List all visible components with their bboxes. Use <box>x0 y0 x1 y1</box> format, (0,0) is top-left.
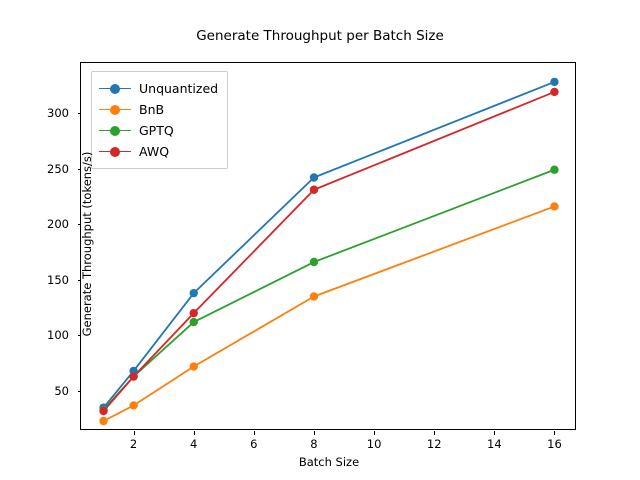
x-tick-mark <box>554 431 555 435</box>
x-tick-label: 10 <box>367 437 382 451</box>
x-axis-label: Batch Size <box>81 455 577 469</box>
x-tick-mark <box>254 431 255 435</box>
y-tick-label: 100 <box>47 328 69 342</box>
legend-swatch <box>99 104 131 116</box>
legend-swatch <box>99 83 131 95</box>
data-point-marker <box>550 166 558 174</box>
data-point-marker <box>310 258 318 266</box>
data-point-marker <box>190 362 198 370</box>
y-tick-mark <box>78 391 82 392</box>
legend-label: BnB <box>139 102 164 117</box>
x-tick-mark <box>134 431 135 435</box>
data-point-marker <box>190 289 198 297</box>
legend-marker-icon <box>110 147 120 157</box>
legend-swatch <box>99 125 131 137</box>
legend-marker-icon <box>110 84 120 94</box>
y-axis-label: Generate Throughput (tokens/s) <box>80 14 94 474</box>
x-tick-label: 8 <box>310 437 317 451</box>
y-tick-mark <box>78 169 82 170</box>
x-tick-label: 2 <box>130 437 137 451</box>
x-tick-label: 16 <box>547 437 562 451</box>
y-tick-label: 150 <box>47 273 69 287</box>
chart-figure: Generate Throughput per Batch Size Unqua… <box>0 0 640 480</box>
data-point-marker <box>550 202 558 210</box>
legend-label: GPTQ <box>139 123 174 138</box>
data-point-marker <box>129 401 137 409</box>
data-point-marker <box>310 186 318 194</box>
legend-label: AWQ <box>139 144 169 159</box>
x-tick-label: 12 <box>427 437 442 451</box>
data-point-marker <box>190 309 198 317</box>
legend-item[interactable]: GPTQ <box>99 120 218 141</box>
data-point-marker <box>190 318 198 326</box>
legend-item[interactable]: BnB <box>99 99 218 120</box>
y-tick-mark <box>78 113 82 114</box>
data-point-marker <box>129 372 137 380</box>
y-tick-label: 200 <box>47 217 69 231</box>
chart-legend: UnquantizedBnBGPTQAWQ <box>91 71 228 169</box>
data-point-marker <box>310 173 318 181</box>
y-tick-mark <box>78 280 82 281</box>
x-tick-mark <box>314 431 315 435</box>
series-line <box>104 206 555 421</box>
data-point-marker <box>310 292 318 300</box>
legend-swatch <box>99 146 131 158</box>
series-line <box>104 170 555 410</box>
x-tick-label: 6 <box>250 437 257 451</box>
y-tick-mark <box>78 335 82 336</box>
x-tick-mark <box>494 431 495 435</box>
data-point-marker <box>99 417 107 425</box>
legend-item[interactable]: AWQ <box>99 141 218 162</box>
data-point-marker <box>550 78 558 86</box>
data-point-marker <box>550 88 558 96</box>
x-tick-label: 14 <box>487 437 502 451</box>
legend-marker-icon <box>110 126 120 136</box>
y-tick-label: 50 <box>54 384 69 398</box>
y-tick-label: 250 <box>47 162 69 176</box>
legend-label: Unquantized <box>139 81 218 96</box>
legend-item[interactable]: Unquantized <box>99 78 218 99</box>
x-tick-mark <box>194 431 195 435</box>
x-tick-mark <box>434 431 435 435</box>
plot-axes: UnquantizedBnBGPTQAWQ Generate Throughpu… <box>80 62 576 430</box>
y-tick-mark <box>78 224 82 225</box>
chart-title: Generate Throughput per Batch Size <box>0 28 640 44</box>
x-tick-label: 4 <box>190 437 197 451</box>
y-tick-label: 300 <box>47 106 69 120</box>
data-point-marker <box>99 407 107 415</box>
x-tick-mark <box>374 431 375 435</box>
legend-marker-icon <box>110 105 120 115</box>
